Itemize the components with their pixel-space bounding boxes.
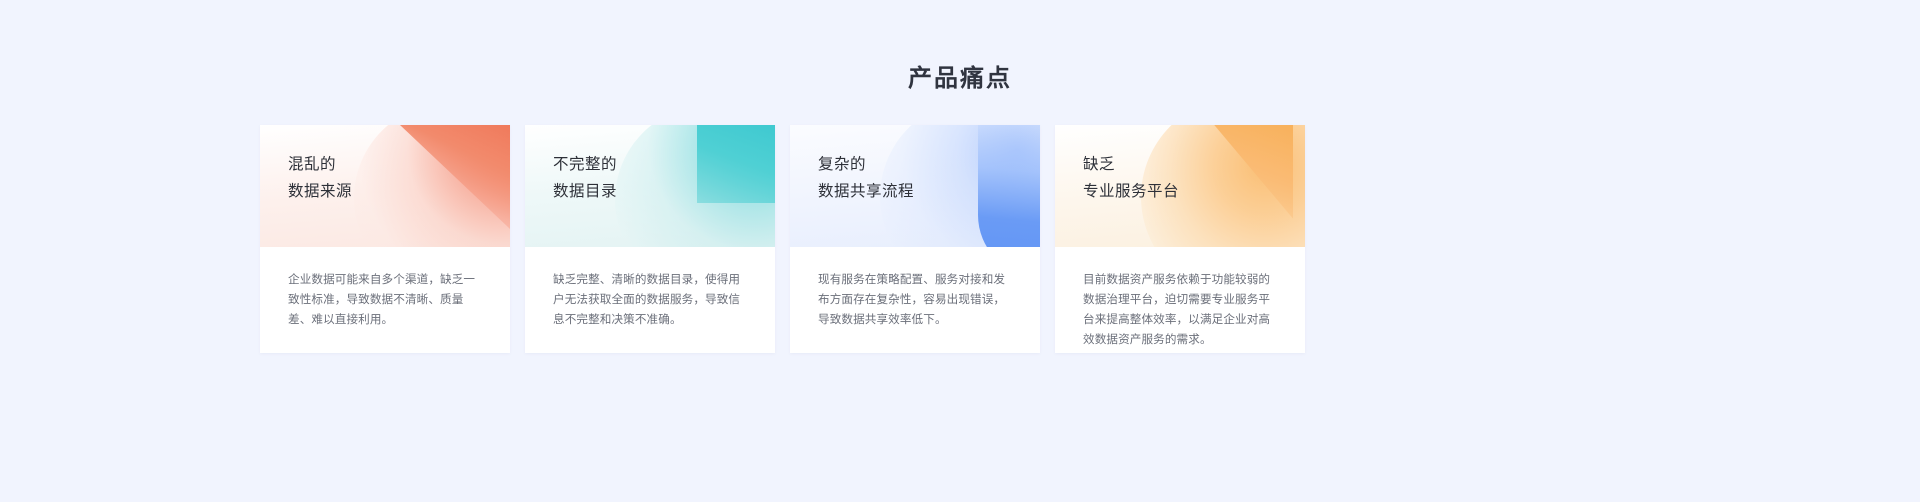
card-title-line-2: 数据共享流程	[818, 178, 914, 205]
card-title: 复杂的 数据共享流程	[818, 151, 914, 205]
card-title: 缺乏 专业服务平台	[1083, 151, 1179, 205]
circle-gradient-decoration-icon	[615, 125, 775, 247]
card-header: 混乱的 数据来源	[260, 125, 510, 247]
circle-gradient-decoration-icon	[354, 125, 510, 247]
card-title-line-2: 专业服务平台	[1083, 178, 1179, 205]
arc-gradient-decoration-icon	[978, 125, 1040, 247]
card-body: 现有服务在策略配置、服务对接和发布方面存在复杂性，容易出现错误，导致数据共享效率…	[790, 247, 1040, 353]
card-body: 缺乏完整、清晰的数据目录，使得用户无法获取全面的数据服务，导致信息不完整和决策不…	[525, 247, 775, 353]
pain-point-card-list: 混乱的 数据来源 企业数据可能来自多个渠道，缺乏一致性标准，导致数据不清晰、质量…	[260, 125, 1660, 353]
pain-point-card[interactable]: 混乱的 数据来源 企业数据可能来自多个渠道，缺乏一致性标准，导致数据不清晰、质量…	[260, 125, 510, 353]
card-header: 缺乏 专业服务平台	[1055, 125, 1305, 247]
page-title: 产品痛点	[0, 58, 1920, 93]
card-title-line-2: 数据来源	[288, 178, 352, 205]
card-title-line-2: 数据目录	[553, 178, 617, 205]
pain-point-card[interactable]: 复杂的 数据共享流程 现有服务在策略配置、服务对接和发布方面存在复杂性，容易出现…	[790, 125, 1040, 353]
card-body: 企业数据可能来自多个渠道，缺乏一致性标准，导致数据不清晰、质量差、难以直接利用。	[260, 247, 510, 353]
wedge-gradient-decoration-icon	[400, 125, 510, 229]
card-title-line-1: 不完整的	[553, 151, 617, 178]
card-header: 不完整的 数据目录	[525, 125, 775, 247]
card-title: 不完整的 数据目录	[553, 151, 617, 205]
card-description: 现有服务在策略配置、服务对接和发布方面存在复杂性，容易出现错误，导致数据共享效率…	[818, 270, 1014, 330]
card-title: 混乱的 数据来源	[288, 151, 352, 205]
wedge-gradient-decoration-icon	[1197, 125, 1293, 245]
card-title-line-1: 缺乏	[1083, 151, 1179, 178]
card-title-line-1: 复杂的	[818, 151, 914, 178]
card-header: 复杂的 数据共享流程	[790, 125, 1040, 247]
pain-point-card[interactable]: 缺乏 专业服务平台 目前数据资产服务依赖于功能较弱的数据治理平台，迫切需要专业服…	[1055, 125, 1305, 353]
card-description: 企业数据可能来自多个渠道，缺乏一致性标准，导致数据不清晰、质量差、难以直接利用。	[288, 270, 484, 330]
card-title-line-1: 混乱的	[288, 151, 352, 178]
card-description: 目前数据资产服务依赖于功能较弱的数据治理平台，迫切需要专业服务平台来提高整体效率…	[1083, 270, 1279, 350]
square-gradient-decoration-icon	[697, 125, 775, 203]
card-description: 缺乏完整、清晰的数据目录，使得用户无法获取全面的数据服务，导致信息不完整和决策不…	[553, 270, 749, 330]
pain-points-section: 产品痛点 混乱的 数据来源 企业数据可能来自多个渠道，缺乏一致性标准，导致数据不…	[0, 0, 1920, 502]
card-body: 目前数据资产服务依赖于功能较弱的数据治理平台，迫切需要专业服务平台来提高整体效率…	[1055, 247, 1305, 353]
pain-point-card[interactable]: 不完整的 数据目录 缺乏完整、清晰的数据目录，使得用户无法获取全面的数据服务，导…	[525, 125, 775, 353]
